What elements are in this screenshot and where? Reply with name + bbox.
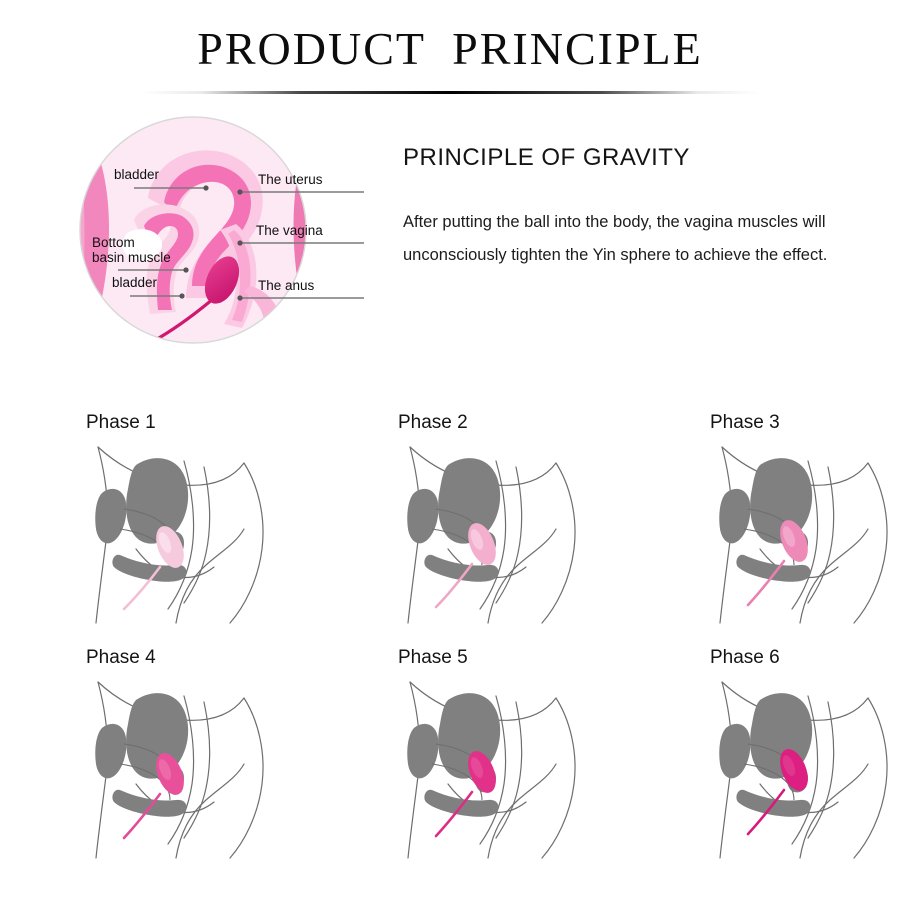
bladder-mass: [407, 724, 438, 778]
leader-dot-bladder-top: [203, 185, 208, 190]
body-outline-right: [854, 698, 887, 858]
phase-label-2: Phase 2: [398, 412, 624, 435]
page-title: PRODUCT PRINCIPLE: [0, 24, 900, 75]
phase-label-6: Phase 6: [710, 647, 900, 670]
leader-dot-vagina: [237, 240, 242, 245]
thigh-crease: [488, 529, 556, 623]
label-left-basin-line1: Bottom: [92, 235, 135, 250]
label-left-bladder-top-text: bladder: [114, 167, 160, 182]
body-outline-right: [854, 463, 887, 623]
phase-illustration-6: [704, 672, 900, 862]
label-right-anus-text: The anus: [258, 278, 315, 293]
thigh-crease: [800, 764, 868, 858]
phase-illustration-5: [392, 672, 624, 862]
body-outline-right: [542, 698, 575, 858]
phase-illustration-3: [704, 437, 900, 627]
gravity-text-block: PRINCIPLE OF GRAVITY After putting the b…: [403, 144, 863, 272]
bladder-mass: [95, 489, 126, 543]
thigh-crease: [176, 764, 244, 858]
thigh-crease: [176, 529, 244, 623]
uterus-mass: [126, 458, 188, 544]
inner-curve-2: [184, 702, 210, 838]
principle-upper-section: bladder Bottom basin muscle bladder The …: [0, 94, 900, 384]
label-right-uterus-text: The uterus: [258, 172, 323, 187]
phase-illustration-1: [80, 437, 312, 627]
phase-grid: Phase 1: [0, 412, 900, 882]
bladder-mass: [407, 489, 438, 543]
organ-shading: [407, 693, 500, 817]
body-outline-right: [542, 463, 575, 623]
organ-shading: [719, 458, 812, 582]
leader-dot-bladder-bottom: [179, 293, 184, 298]
phase-cell-5: Phase 5: [312, 647, 624, 882]
leader-dot-anus: [237, 295, 242, 300]
inner-curve-2: [184, 467, 210, 603]
bladder-mass: [719, 724, 750, 778]
thigh-crease: [800, 529, 868, 623]
inner-curve-2: [496, 467, 522, 603]
bladder-mass: [719, 489, 750, 543]
organ-shading: [95, 693, 188, 817]
inner-curve-2: [808, 702, 834, 838]
phase-label-3: Phase 3: [710, 412, 900, 435]
phase-label-5: Phase 5: [398, 647, 624, 670]
bladder-mass: [95, 724, 126, 778]
thigh-crease: [488, 764, 556, 858]
label-left-basin-line2: basin muscle: [92, 250, 171, 265]
phase-label-4: Phase 4: [86, 647, 312, 670]
phase-illustration-4: [80, 672, 312, 862]
page-header: PRODUCT PRINCIPLE: [0, 0, 900, 94]
phase-cell-4: Phase 4: [0, 647, 312, 882]
inner-curve-2: [808, 467, 834, 603]
phase-cell-2: Phase 2: [312, 412, 624, 647]
label-right-vagina-text: The vagina: [256, 223, 323, 238]
gravity-heading: PRINCIPLE OF GRAVITY: [403, 144, 863, 172]
phase-cell-6: Phase 6: [624, 647, 900, 882]
phase-cell-3: Phase 3: [624, 412, 900, 647]
rectum-mass: [424, 790, 498, 817]
leader-dot-uterus: [237, 189, 242, 194]
body-outline-right: [230, 463, 263, 623]
label-left-bladder-bottom-text: bladder: [112, 275, 158, 290]
gravity-body-text: After putting the ball into the body, th…: [403, 206, 843, 272]
anatomy-diagram: bladder Bottom basin muscle bladder The …: [78, 102, 368, 372]
phase-label-1: Phase 1: [86, 412, 312, 435]
phase-cell-1: Phase 1: [0, 412, 312, 647]
body-outline-right: [230, 698, 263, 858]
phase-illustration-2: [392, 437, 624, 627]
leader-dot-basin: [183, 267, 188, 272]
inner-curve-2: [496, 702, 522, 838]
